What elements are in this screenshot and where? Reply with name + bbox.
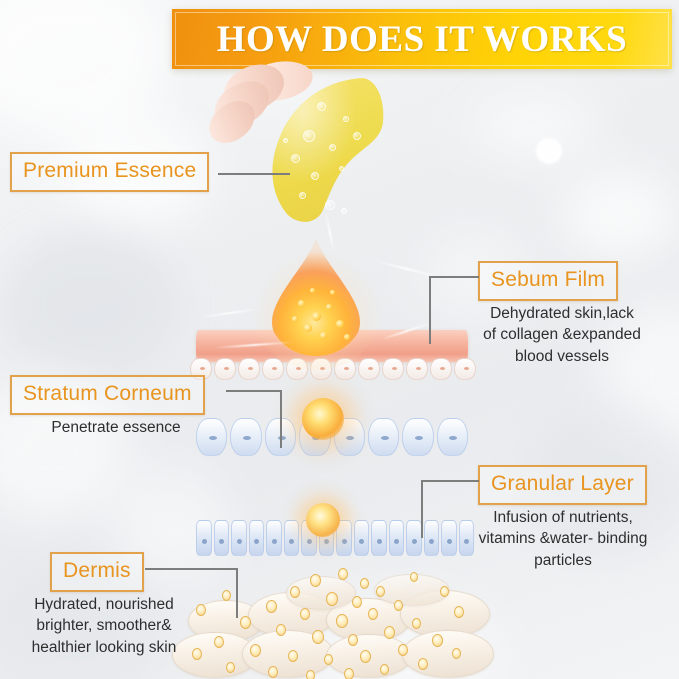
infographic-poster: HOW DOES IT WORKS [0, 0, 679, 679]
connector-stratum-corneum-horizontal [226, 390, 282, 392]
hand-holding-patch [205, 62, 415, 227]
callout-desc-dermis: Hydrated, nourished brighter, smoother& … [10, 594, 198, 658]
connector-stratum-corneum-vertical [280, 390, 282, 448]
callout-desc-granular-layer: Infusion of nutrients, vitamins &water- … [456, 507, 670, 571]
connector-dermis-vertical [236, 568, 238, 618]
connector-sebum-film-vertical [429, 276, 431, 344]
callout-label-stratum-corneum[interactable]: Stratum Corneum [10, 375, 205, 415]
connector-dermis-horizontal [145, 568, 238, 570]
connector-granular-layer-horizontal [421, 480, 479, 482]
page-title: HOW DOES IT WORKS [217, 18, 628, 61]
callout-label-premium-essence[interactable]: Premium Essence [10, 152, 209, 192]
header-banner: HOW DOES IT WORKS [172, 9, 672, 69]
sebum-film-cell-row [190, 358, 476, 380]
callout-label-dermis[interactable]: Dermis [50, 552, 144, 592]
corneum-essence-orb [302, 398, 344, 440]
callout-label-granular-layer[interactable]: Granular Layer [478, 465, 647, 505]
connector-sebum-film-horizontal [429, 276, 479, 278]
callout-desc-stratum-corneum: Penetrate essence [18, 417, 214, 438]
connector-premium-essence [218, 173, 290, 175]
connector-granular-layer-vertical [421, 480, 423, 538]
granular-essence-orb [306, 503, 340, 537]
callout-label-sebum-film[interactable]: Sebum Film [478, 261, 618, 301]
callout-desc-sebum-film: Dehydrated skin,lack of collagen &expand… [462, 303, 662, 367]
